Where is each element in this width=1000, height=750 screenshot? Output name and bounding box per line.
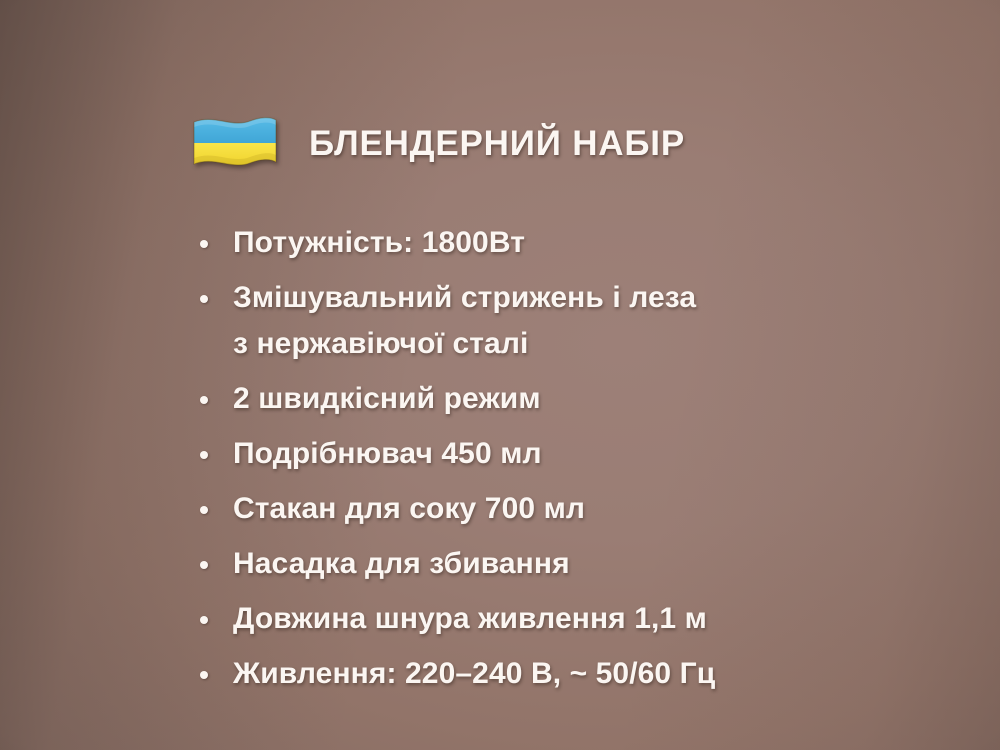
spec-list: Потужність: 1800Вт Змішувальний стрижень… [196, 220, 846, 706]
list-item: Подрібнювач 450 мл [196, 431, 846, 477]
ukraine-flag-icon [188, 112, 280, 176]
slide-content: БЛЕНДЕРНИЙ НАБІР Потужність: 1800Вт Зміш… [0, 0, 1000, 750]
list-item: Насадка для збивання [196, 541, 846, 587]
list-item: Живлення: 220–240 В, ~ 50/60 Гц [196, 651, 846, 697]
product-spec-slide: БЛЕНДЕРНИЙ НАБІР Потужність: 1800Вт Зміш… [0, 0, 1000, 750]
list-item: 2 швидкісний режим [196, 376, 846, 422]
page-title: БЛЕНДЕРНИЙ НАБІР [309, 124, 685, 164]
list-item: Змішувальний стрижень і леза з нержавіюч… [196, 275, 713, 367]
slide-header: БЛЕНДЕРНИЙ НАБІР [188, 112, 685, 176]
list-item: Потужність: 1800Вт [196, 220, 846, 266]
list-item: Стакан для соку 700 мл [196, 486, 846, 532]
list-item: Довжина шнура живлення 1,1 м [196, 596, 846, 642]
